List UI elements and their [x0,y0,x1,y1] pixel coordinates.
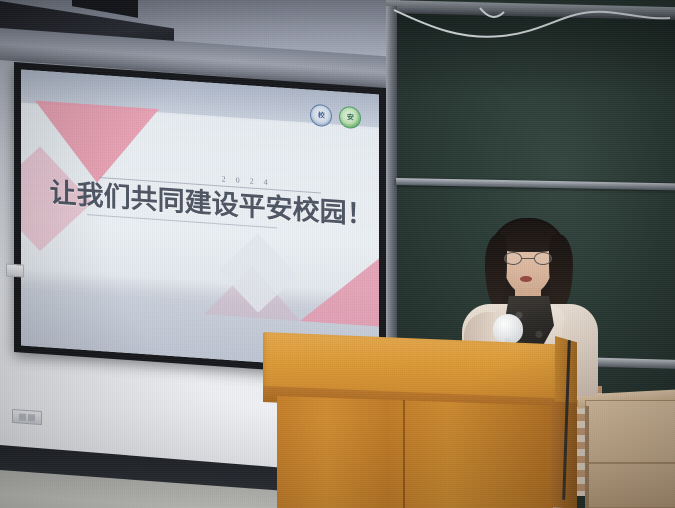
glasses-bridge [522,258,534,259]
safety-emblem-logo: 安 [339,106,361,130]
wall-light-switch[interactable] [6,263,24,277]
side-desk-drawer-line [588,462,675,464]
podium[interactable] [255,330,595,508]
glasses-lens-right [534,252,552,265]
wall-power-socket[interactable] [12,409,42,425]
slide-logos: 校 安 [310,104,361,130]
screen-surface: 校 安 2 0 2 4 让我们共同建设平安校园！ [21,69,379,370]
side-desk[interactable] [585,400,675,508]
socket-outlet [19,413,26,420]
glasses-icon [504,252,552,265]
podium-panel-seam [403,400,405,508]
podium-front-panel [277,396,553,508]
presenter-hair-left [485,234,507,306]
lecture-hall-photo: 校 安 2 0 2 4 让我们共同建设平安校园！ [0,0,675,508]
university-seal-logo: 校 [310,104,332,128]
socket-outlet [28,414,35,421]
glasses-lens-left [504,252,522,265]
presenter-mouth [520,276,532,282]
presentation-slide: 校 安 2 0 2 4 让我们共同建设平安校园！ [21,69,379,370]
decor-triangle-bottom-right [300,247,379,327]
presenter-hair-right [549,234,573,308]
slide-text-block: 2 0 2 4 让我们共同建设平安校园！ [50,163,358,235]
